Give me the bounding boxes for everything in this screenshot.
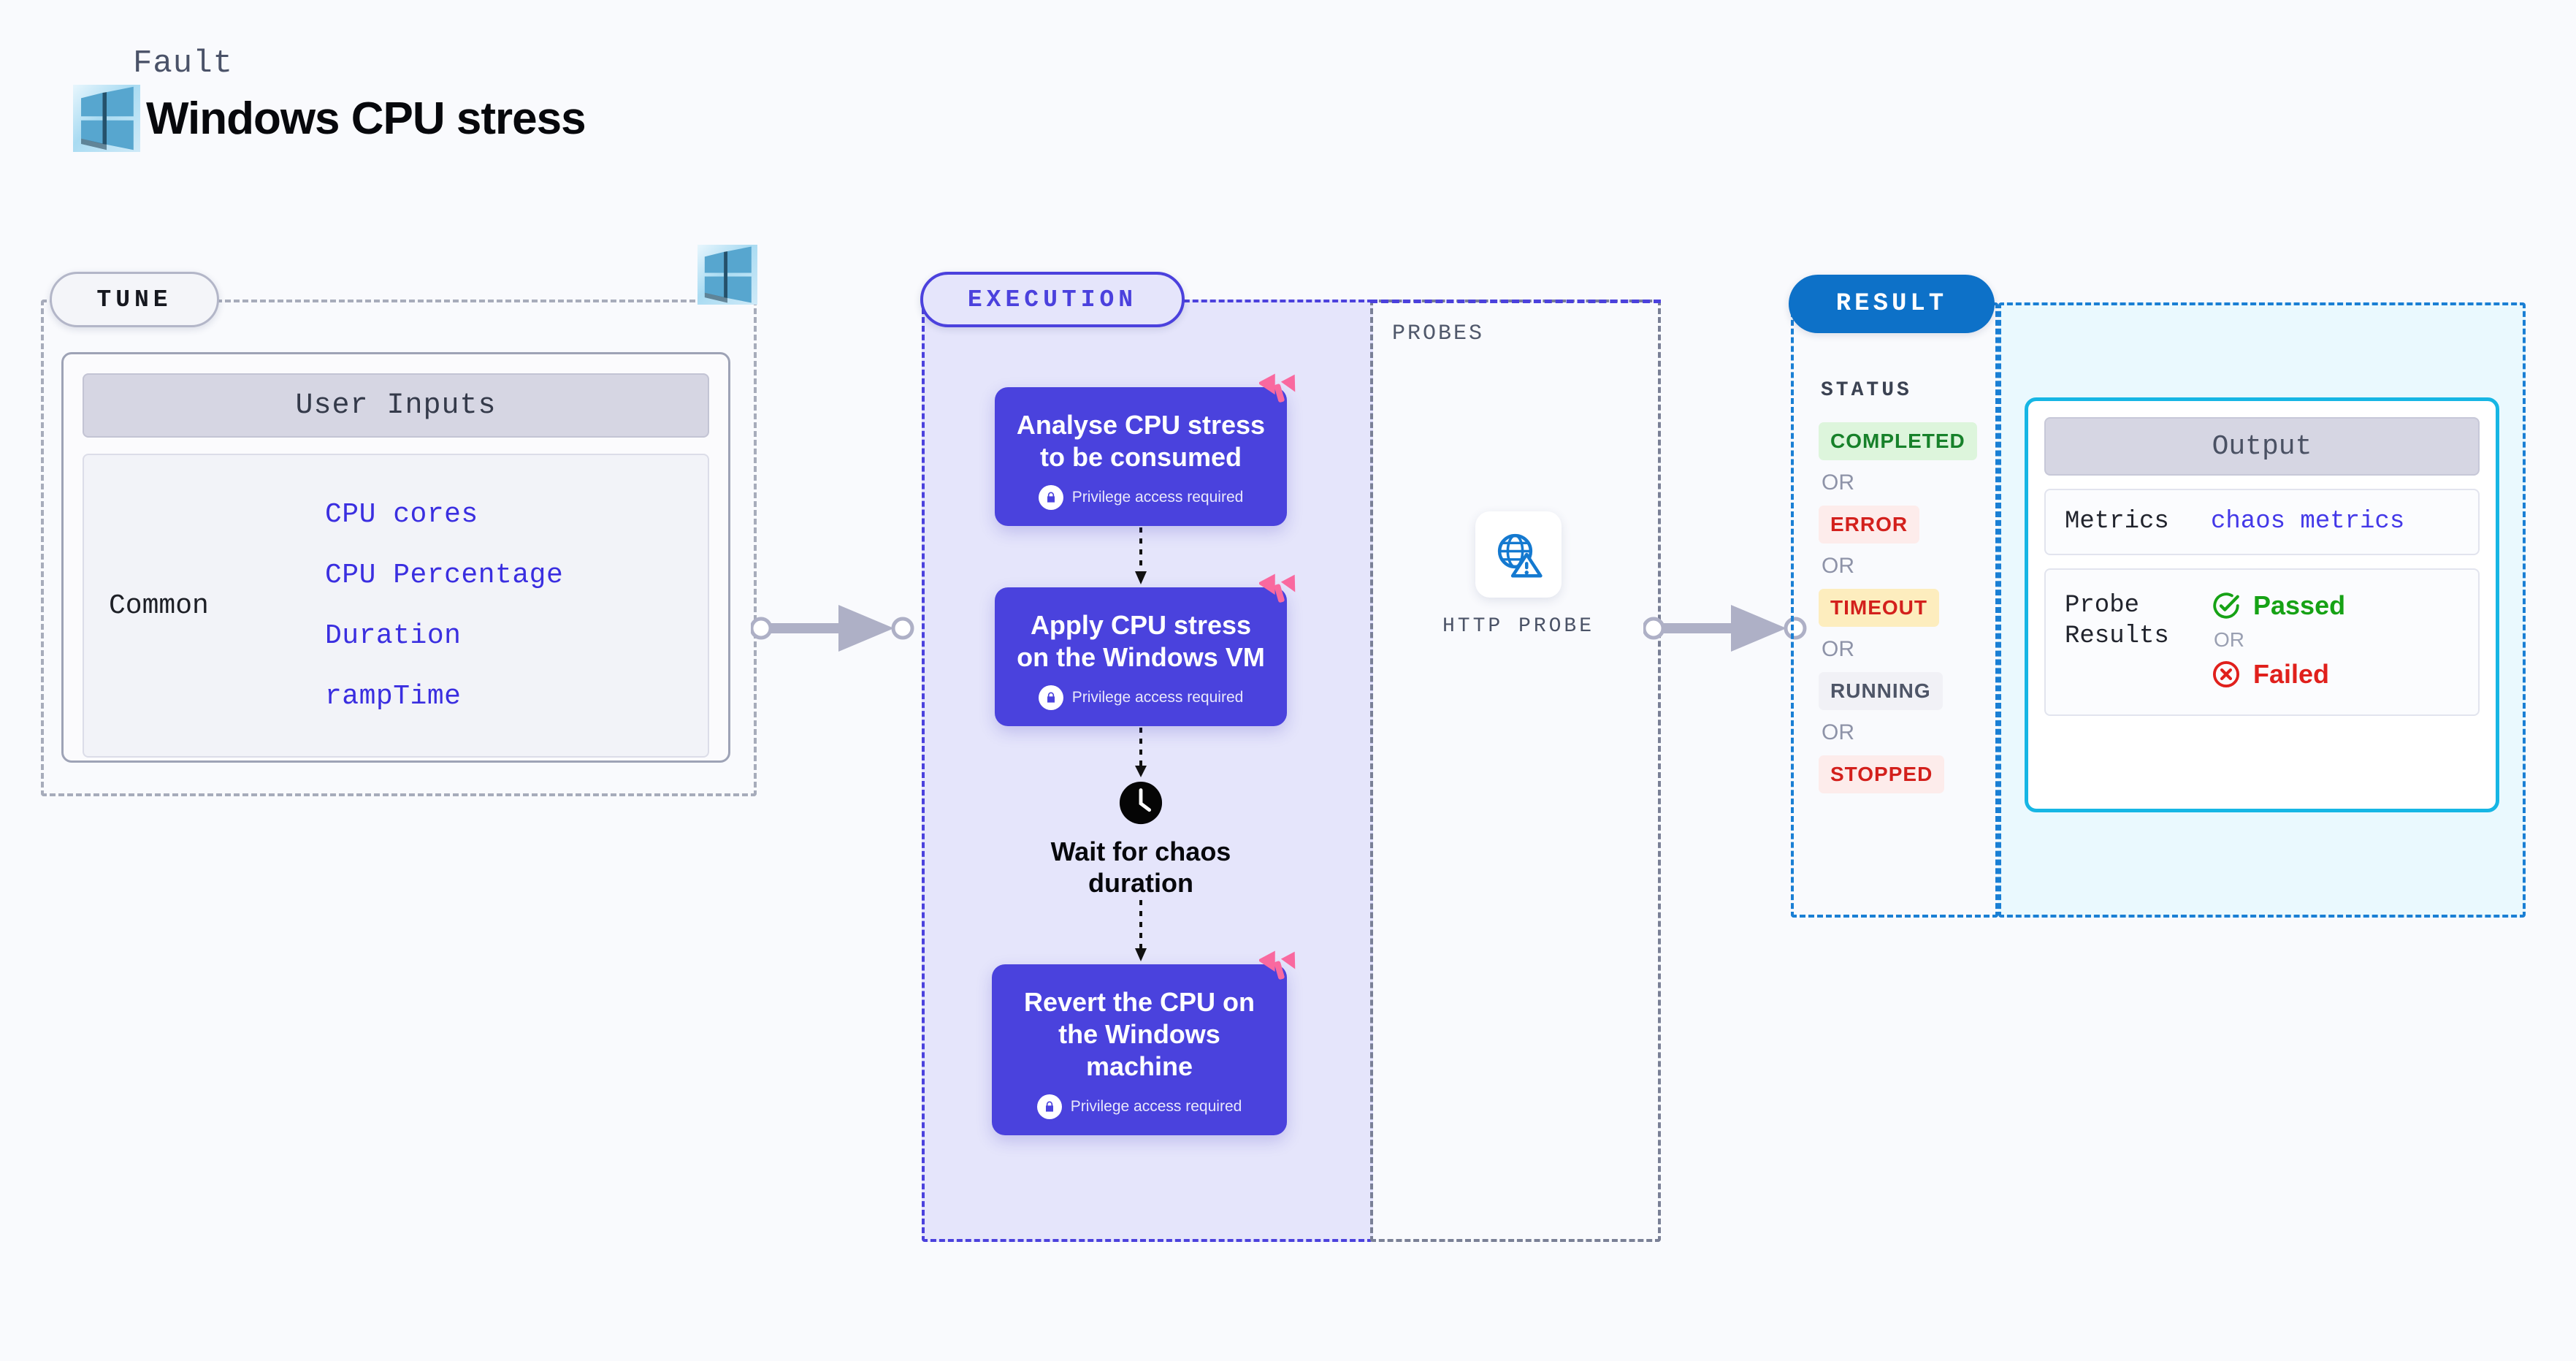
common-inputs-panel: Common CPU cores CPU Percentage Duration… — [83, 454, 709, 758]
privilege-row: Privilege access required — [1011, 485, 1271, 510]
or-label: OR — [1822, 637, 1987, 662]
probes-section-boundary — [1370, 300, 1661, 1242]
lock-icon — [1039, 685, 1063, 710]
output-card: Output Metrics chaos metrics Probe Resul… — [2025, 397, 2499, 812]
tune-section-pill: TUNE — [50, 272, 219, 327]
fault-label: Fault — [133, 45, 586, 82]
or-label: OR — [1822, 720, 1987, 745]
privilege-text: Privilege access required — [1071, 1098, 1242, 1116]
metrics-key: Metrics — [2065, 506, 2211, 538]
common-group-label: Common — [84, 590, 325, 622]
or-label: OR — [1822, 554, 1987, 579]
flow-arrow — [995, 726, 1287, 780]
execution-step-card[interactable]: Revert the CPU on the Windows machine Pr… — [992, 964, 1287, 1135]
wait-node: Wait for chaos duration — [995, 780, 1287, 899]
output-header: Output — [2044, 417, 2480, 476]
title-row: Windows CPU stress — [73, 85, 586, 152]
execution-section-pill: EXECUTION — [920, 272, 1185, 327]
flow-arrow — [995, 899, 1287, 964]
probe-result-failed: Failed — [2211, 659, 2345, 690]
execution-step-title: Analyse CPU stress to be consumed — [1011, 409, 1271, 473]
clock-icon — [1118, 780, 1163, 826]
litmus-ribbon-icon — [1259, 944, 1304, 989]
flow-arrow — [995, 526, 1287, 587]
probes-section-top-edge — [1370, 300, 1661, 303]
lock-icon — [1037, 1094, 1062, 1119]
probe-result-passed: Passed — [2211, 590, 2345, 621]
status-badge: COMPLETED — [1819, 422, 1977, 460]
windows-logo-icon — [73, 85, 140, 152]
or-label: OR — [2214, 628, 2345, 652]
probe-results-key: Probe Results — [2065, 590, 2211, 652]
user-inputs-header: User Inputs — [83, 373, 709, 438]
probe-label: HTTP PROBE — [1442, 615, 1594, 638]
privilege-row: Privilege access required — [1011, 685, 1271, 710]
input-item-duration[interactable]: Duration — [325, 620, 563, 652]
execution-step-title: Apply CPU stress on the Windows VM — [1011, 609, 1271, 674]
input-item-cpu-percentage[interactable]: CPU Percentage — [325, 560, 563, 591]
litmus-ribbon-icon — [1259, 567, 1304, 612]
execution-step-title: Revert the CPU on the Windows machine — [1008, 986, 1271, 1083]
probe-item-http[interactable]: HTTP PROBE — [1442, 511, 1594, 638]
probes-section-label: PROBES — [1392, 321, 1484, 346]
metrics-value[interactable]: chaos metrics — [2211, 508, 2404, 535]
inputs-list: CPU cores CPU Percentage Duration rampTi… — [325, 499, 563, 712]
passed-label: Passed — [2253, 590, 2345, 621]
status-badge: ERROR — [1819, 506, 1919, 544]
wait-label: Wait for chaos duration — [995, 836, 1287, 899]
probe-results-row: Probe Results Passed OR Failed — [2044, 568, 2480, 716]
metrics-row: Metrics chaos metrics — [2044, 489, 2480, 555]
user-inputs-card: User Inputs Common CPU cores CPU Percent… — [61, 352, 730, 763]
result-section-pill: RESULT — [1789, 275, 1995, 333]
x-circle-icon — [2211, 659, 2241, 690]
privilege-text: Privilege access required — [1072, 689, 1244, 706]
privilege-row: Privilege access required — [1008, 1094, 1271, 1119]
input-item-ramptime[interactable]: rampTime — [325, 681, 563, 712]
globe-warning-icon — [1475, 511, 1562, 598]
status-label: STATUS — [1821, 379, 1912, 402]
windows-logo-icon — [697, 245, 757, 305]
check-circle-icon — [2211, 590, 2241, 621]
status-badge: STOPPED — [1819, 755, 1944, 793]
litmus-ribbon-icon — [1259, 367, 1304, 412]
status-badge: RUNNING — [1819, 672, 1943, 710]
or-label: OR — [1822, 470, 1987, 495]
status-list: COMPLETED OR ERROR OR TIMEOUT OR RUNNING… — [1819, 422, 1987, 793]
probe-results-values: Passed OR Failed — [2211, 590, 2345, 690]
execution-flow: Analyse CPU stress to be consumed Privil… — [995, 387, 1287, 1135]
input-item-cpu-cores[interactable]: CPU cores — [325, 499, 563, 530]
connector-tune-to-execution — [751, 592, 933, 665]
execution-step-card[interactable]: Apply CPU stress on the Windows VM Privi… — [995, 587, 1287, 726]
status-badge: TIMEOUT — [1819, 589, 1939, 627]
execution-step-card[interactable]: Analyse CPU stress to be consumed Privil… — [995, 387, 1287, 526]
page-title: Windows CPU stress — [146, 93, 586, 145]
page-header: Fault Windows CPU stress — [73, 45, 586, 152]
failed-label: Failed — [2253, 659, 2329, 690]
privilege-text: Privilege access required — [1072, 489, 1244, 506]
lock-icon — [1039, 485, 1063, 510]
